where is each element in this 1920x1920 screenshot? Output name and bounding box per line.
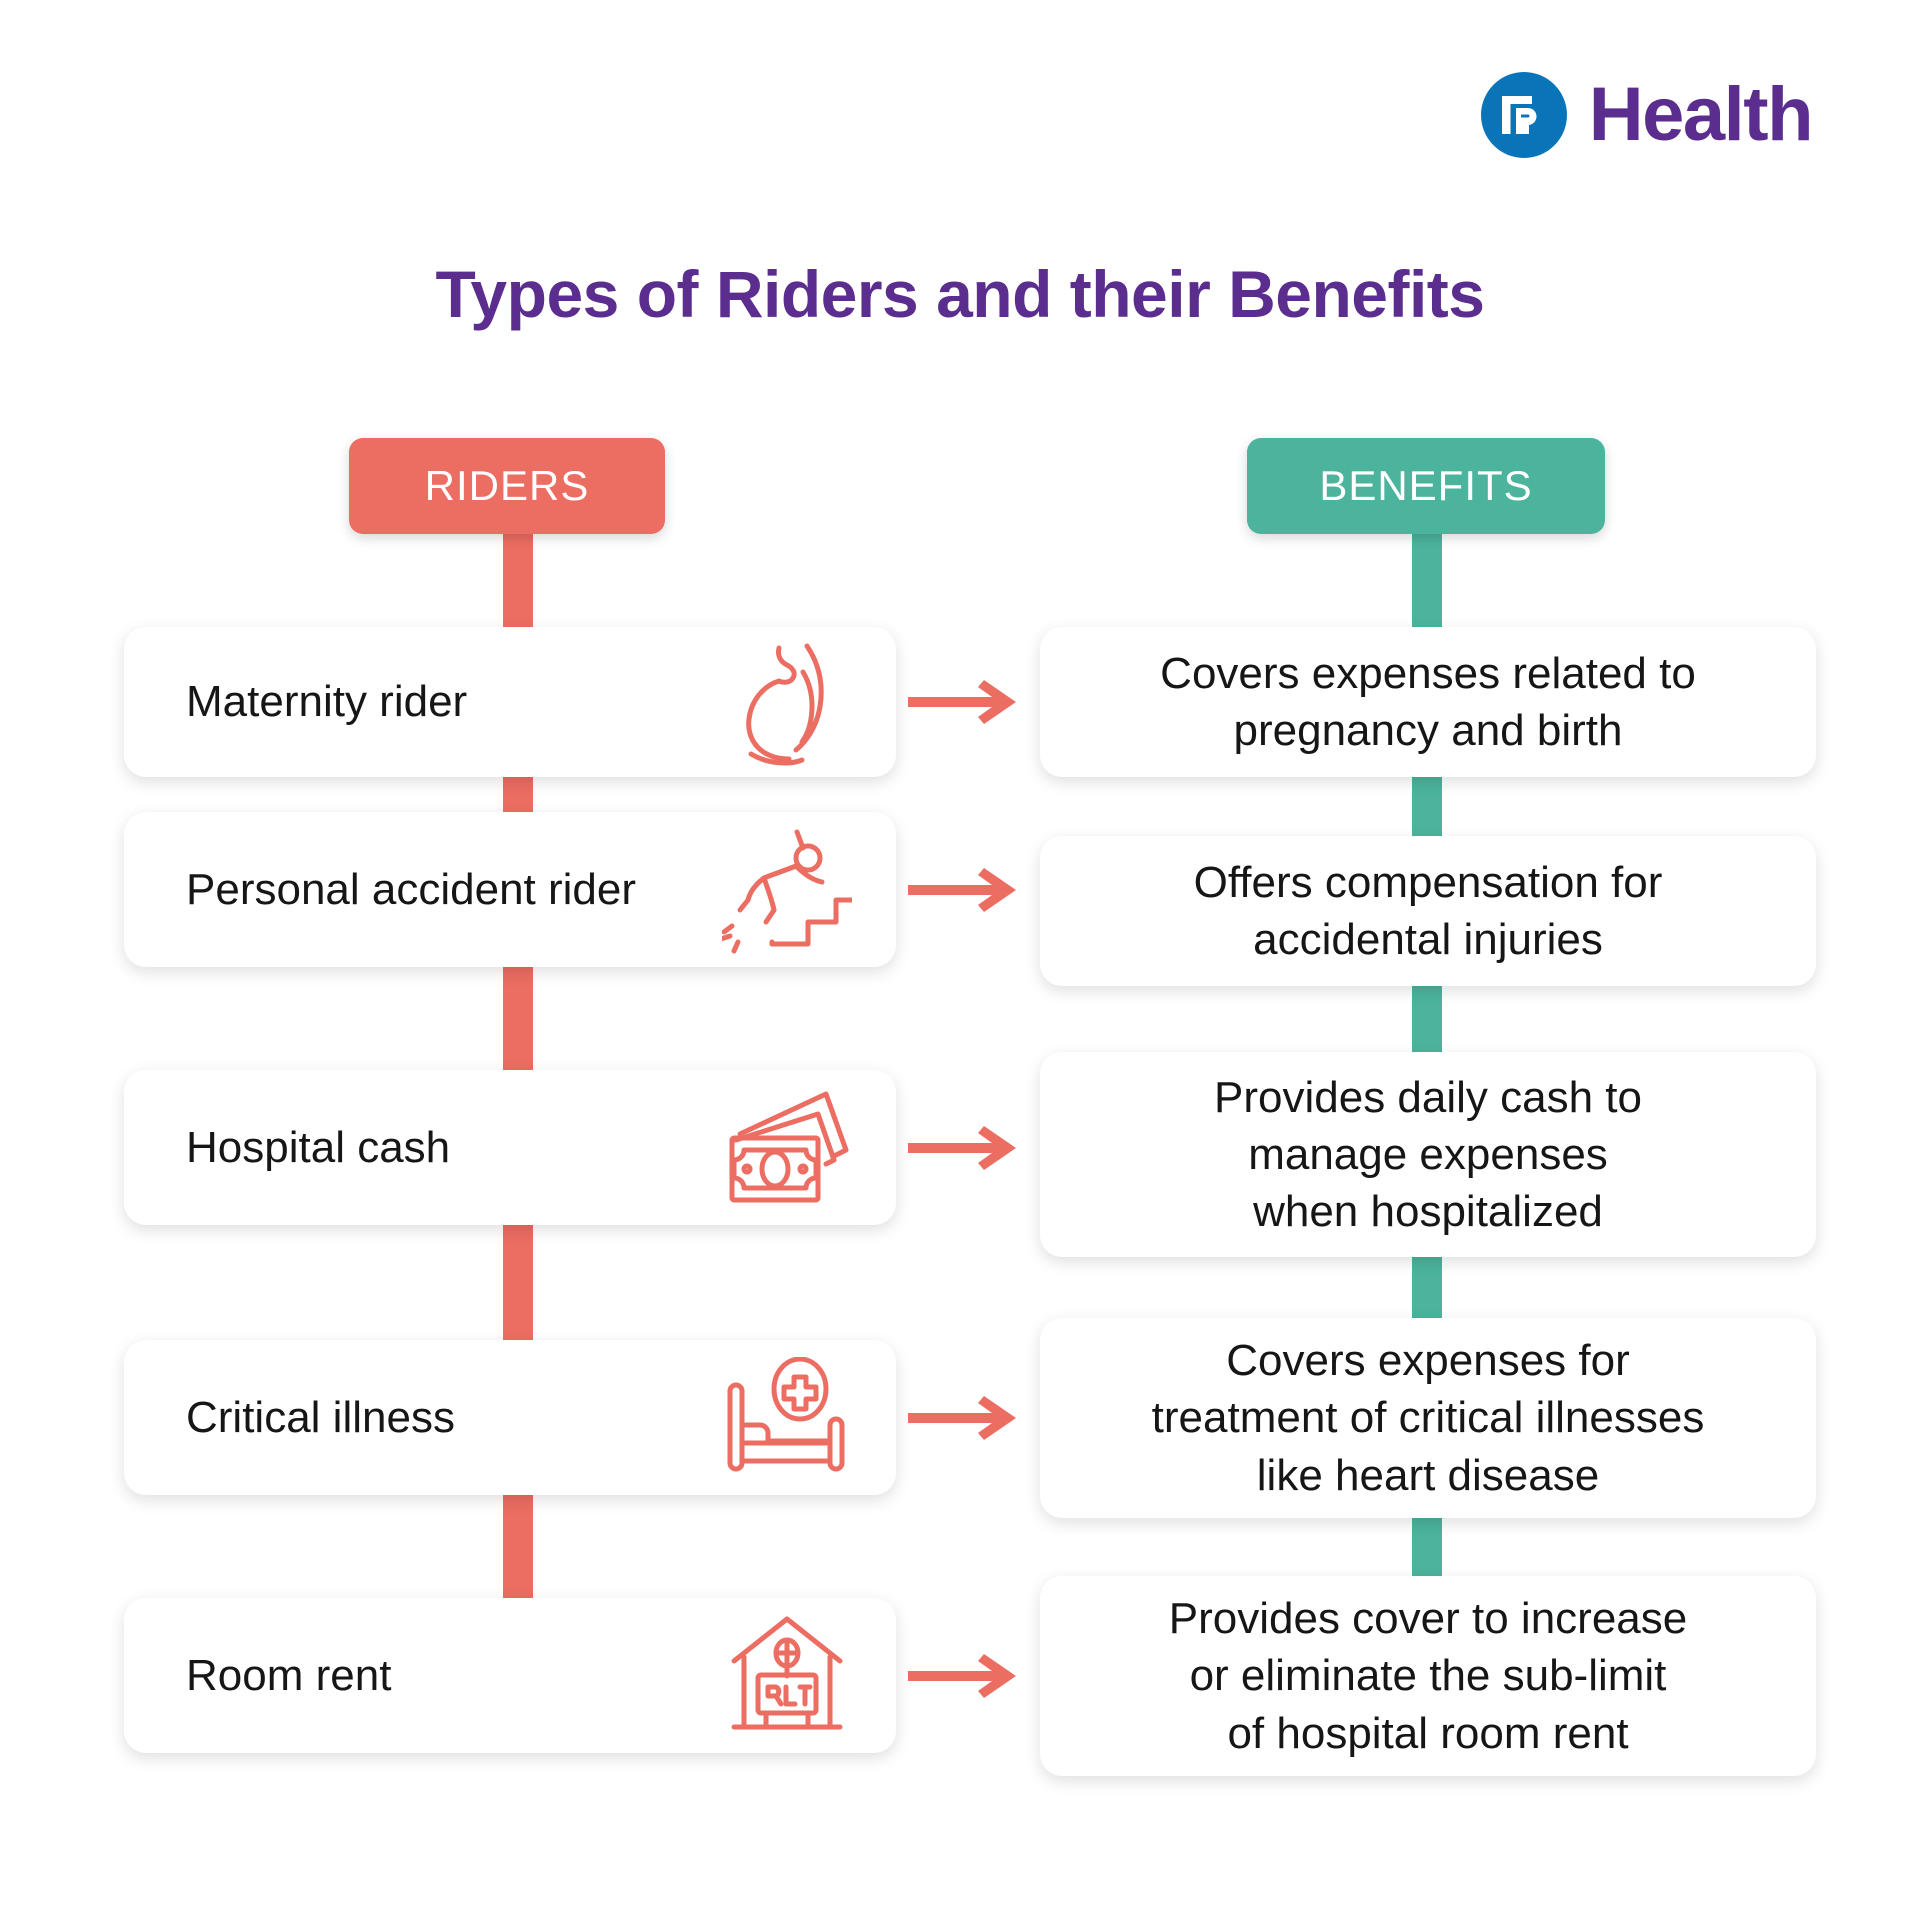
- row-arrow: [908, 860, 1026, 920]
- benefit-card[interactable]: Covers expenses for treatment of critica…: [1040, 1318, 1816, 1518]
- benefit-text: Covers expenses for treatment of critica…: [1152, 1332, 1705, 1504]
- bajaj-b-icon: [1481, 72, 1567, 158]
- rider-label: Critical illness: [186, 1392, 455, 1444]
- infographic-canvas: Health Types of Riders and their Benefit…: [0, 0, 1920, 1920]
- rider-card[interactable]: Hospital cash: [124, 1070, 896, 1225]
- rider-card[interactable]: Critical illness: [124, 1340, 896, 1495]
- rider-card[interactable]: Room rent: [124, 1598, 896, 1753]
- pregnant-woman-icon: [712, 627, 862, 777]
- benefit-card[interactable]: Provides daily cash to manage expenses w…: [1040, 1052, 1816, 1257]
- column-header-benefits-label: BENEFITS: [1319, 462, 1532, 510]
- row-arrow: [908, 1388, 1026, 1448]
- rider-label: Personal accident rider: [186, 864, 636, 916]
- benefit-text: Offers compensation for accidental injur…: [1194, 854, 1663, 968]
- benefit-card[interactable]: Offers compensation for accidental injur…: [1040, 836, 1816, 986]
- benefit-text: Provides cover to increase or eliminate …: [1169, 1590, 1687, 1762]
- column-header-benefits: BENEFITS: [1247, 438, 1605, 534]
- rider-label: Room rent: [186, 1650, 391, 1702]
- benefit-card[interactable]: Covers expenses related to pregnancy and…: [1040, 627, 1816, 777]
- rider-card[interactable]: Maternity rider: [124, 627, 896, 777]
- page-title: Types of Riders and their Benefits: [0, 256, 1920, 332]
- row-arrow: [908, 1118, 1026, 1178]
- benefit-text: Covers expenses related to pregnancy and…: [1160, 645, 1696, 759]
- hospital-bed-icon: [712, 1343, 862, 1493]
- benefit-card[interactable]: Provides cover to increase or eliminate …: [1040, 1576, 1816, 1776]
- rider-card[interactable]: Personal accident rider: [124, 812, 896, 967]
- rider-label: Maternity rider: [186, 676, 467, 728]
- person-falling-stairs-icon: [712, 815, 862, 965]
- row-arrow: [908, 1646, 1026, 1706]
- banknotes-icon: [712, 1073, 862, 1223]
- brand-logo: Health: [1481, 72, 1812, 158]
- rider-label: Hospital cash: [186, 1122, 450, 1174]
- column-header-riders: RIDERS: [349, 438, 665, 534]
- column-header-riders-label: RIDERS: [425, 462, 590, 510]
- house-rent-sign-icon: [712, 1601, 862, 1751]
- brand-name: Health: [1589, 77, 1812, 153]
- row-arrow: [908, 672, 1026, 732]
- benefit-text: Provides daily cash to manage expenses w…: [1214, 1069, 1642, 1241]
